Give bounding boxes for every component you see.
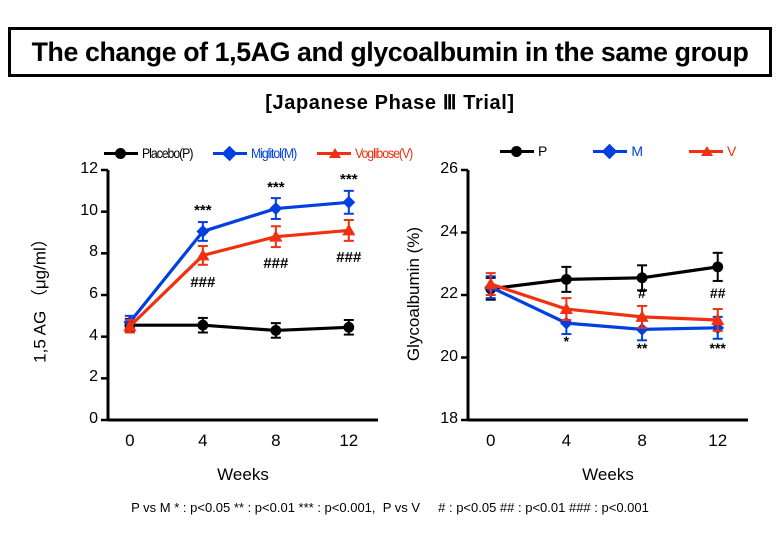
x-axis-title: Weeks bbox=[468, 465, 748, 485]
significance-annotation: *** bbox=[319, 171, 379, 188]
x-tick-label: 4 bbox=[541, 431, 591, 451]
legend-right-chart: PMV bbox=[500, 144, 780, 158]
x-tick-label: 0 bbox=[105, 431, 155, 451]
y-tick-label: 10 bbox=[52, 202, 98, 220]
legend-entry-placebop: Placebo(P) bbox=[104, 146, 199, 160]
triangle-marker-icon bbox=[689, 144, 723, 158]
x-tick-label: 0 bbox=[466, 431, 516, 451]
data-point bbox=[561, 274, 572, 285]
legend-label: Voglibose(V) bbox=[355, 146, 412, 160]
axes bbox=[101, 170, 378, 420]
significance-annotation: ### bbox=[173, 274, 233, 291]
significance-annotation: ### bbox=[319, 249, 379, 266]
significance-annotation: *** bbox=[246, 179, 306, 196]
y-tick-label: 0 bbox=[52, 410, 98, 428]
significance-annotation: # bbox=[612, 285, 672, 301]
chart-page: The change of 1,5AG and glycoalbumin in … bbox=[0, 0, 780, 540]
y-tick-label: 4 bbox=[52, 327, 98, 345]
title-box: The change of 1,5AG and glycoalbumin in … bbox=[8, 27, 772, 77]
x-tick-label: 4 bbox=[178, 431, 228, 451]
y-tick-label: 2 bbox=[52, 368, 98, 386]
legend-left-chart: Placebo(P)Miglitol(M)Voglibose(V) bbox=[104, 146, 420, 160]
data-point bbox=[270, 325, 281, 336]
data-point bbox=[342, 196, 355, 209]
series-placebop bbox=[124, 318, 354, 338]
significance-annotation: * bbox=[536, 333, 596, 349]
data-point bbox=[484, 277, 497, 289]
significance-footnote: P vs M * : p<0.05 ** : p<0.01 *** : p<0.… bbox=[0, 500, 780, 515]
legend-label: M bbox=[631, 144, 643, 158]
data-point bbox=[197, 320, 208, 331]
circle-marker-icon bbox=[104, 146, 138, 160]
legend-entry-v: V bbox=[689, 144, 736, 158]
y-axis-title: Glycoalbumin (%) bbox=[404, 169, 424, 419]
legend-label: Miglitol(M) bbox=[251, 146, 296, 160]
significance-annotation: ### bbox=[246, 255, 306, 272]
x-tick-label: 8 bbox=[251, 431, 301, 451]
legend-entry-m: M bbox=[593, 144, 643, 158]
data-point bbox=[343, 322, 354, 333]
legend-label: P bbox=[538, 144, 547, 158]
series-voglibosev bbox=[123, 220, 355, 333]
diamond-marker-icon bbox=[213, 146, 247, 160]
data-point bbox=[637, 272, 648, 283]
legend-label: V bbox=[727, 144, 736, 158]
y-tick-label: 8 bbox=[52, 243, 98, 261]
x-tick-label: 12 bbox=[324, 431, 374, 451]
y-axis-title: 1,5 AG （μg/ml） bbox=[26, 172, 51, 422]
y-tick-label: 6 bbox=[52, 285, 98, 303]
x-tick-label: 12 bbox=[693, 431, 743, 451]
significance-annotation: ** bbox=[612, 340, 672, 356]
legend-entry-voglibosev: Voglibose(V) bbox=[317, 146, 420, 160]
diamond-marker-icon bbox=[593, 144, 627, 158]
legend-entry-miglitolm: Miglitol(M) bbox=[213, 146, 302, 160]
data-point bbox=[712, 261, 723, 272]
y-tick-label: 12 bbox=[52, 160, 98, 178]
x-tick-label: 8 bbox=[617, 431, 667, 451]
x-axis-title: Weeks bbox=[108, 465, 378, 485]
legend-label: Placebo(P) bbox=[142, 146, 192, 160]
legend-entry-p: P bbox=[500, 144, 547, 158]
chart-panel-glycoalbumin: 182022242604812WeeksGlycoalbumin (%)****… bbox=[396, 160, 780, 490]
circle-marker-icon bbox=[500, 144, 534, 158]
significance-annotation: ## bbox=[688, 285, 748, 301]
significance-annotation: *** bbox=[173, 202, 233, 219]
subtitle: [Japanese Phase Ⅲ Trial] bbox=[0, 90, 780, 115]
triangle-marker-icon bbox=[317, 146, 351, 160]
data-point bbox=[269, 202, 282, 215]
significance-annotation: *** bbox=[688, 340, 748, 356]
chart-panel-1-5ag: 02468101204812Weeks1,5 AG （μg/ml）*******… bbox=[0, 160, 400, 490]
page-title: The change of 1,5AG and glycoalbumin in … bbox=[32, 37, 749, 68]
